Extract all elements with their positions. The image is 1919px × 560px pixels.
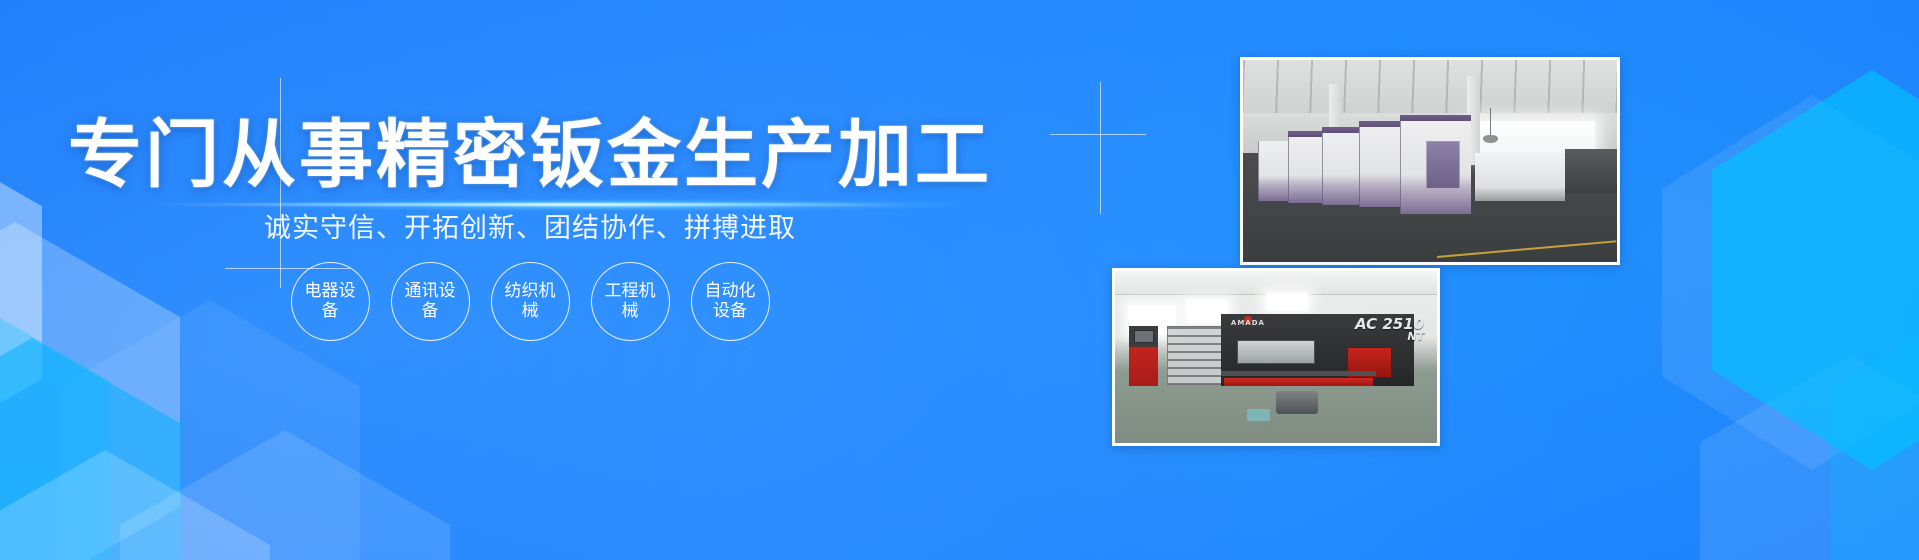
cnc-machine-door [1426,141,1460,189]
banner-headline: 专门从事精密钣金生产加工 [0,118,1060,192]
punch-press-red-bar [1224,378,1372,387]
punch-press-rail [1221,371,1376,376]
photo-cnc-machining-center-row[interactable] [1240,57,1620,265]
machine-far-right [1565,149,1617,193]
capability-badge-engineering[interactable]: 工程机械 [591,262,670,341]
hex-shape-right-3 [1700,355,1919,560]
factory-window [1266,293,1308,310]
capability-badge-list: 电器设备 通讯设备 纺织机械 工程机械 自动化设备 [0,262,1060,341]
factory-ceiling [1243,60,1617,113]
capability-badge-label: 电器设备 [301,282,360,321]
machine-model-label: AC 2510 NT [1355,317,1424,342]
floor-bucket [1247,409,1270,421]
machine-brand-label: AMADA [1231,319,1265,327]
capability-badge-communication[interactable]: 通讯设备 [391,262,470,341]
banner-subtitle: 诚实守信、开拓创新、团结协作、拼搏进取 [0,206,1060,245]
photo-amada-turret-punch-press-image: AMADA AC 2510 NT [1115,271,1437,443]
ceiling-lamp [1483,135,1498,143]
hex-shape-right-2 [1662,95,1919,470]
photo-amada-turret-punch-press[interactable]: AMADA AC 2510 NT [1112,268,1440,446]
capability-badge-electrical[interactable]: 电器设备 [291,262,370,341]
capability-badge-label: 自动化设备 [701,282,760,321]
capability-badge-textile[interactable]: 纺织机械 [491,262,570,341]
machine-control-console [1129,326,1158,386]
punch-press-motor [1276,391,1318,413]
console-screen [1134,330,1155,343]
capability-badge-automation[interactable]: 自动化设备 [691,262,770,341]
lamp-cord [1490,108,1491,136]
banner-copy-block: 专门从事精密钣金生产加工 诚实守信、开拓创新、团结协作、拼搏进取 电器设备 通讯… [0,0,1060,560]
punch-press-panel [1237,340,1314,364]
machine-right [1475,153,1565,201]
capability-badge-label: 通讯设备 [401,282,460,321]
factory-ceiling [1115,271,1437,295]
crosshair-vertical-line [1100,82,1101,214]
crosshair-horizontal-line [1050,134,1146,135]
capability-badge-label: 纺织机械 [501,282,560,321]
floor-marking-line [1437,240,1616,258]
capability-badge-label: 工程机械 [601,282,660,321]
hex-shape-right-4 [1830,300,1919,560]
hero-banner: 专门从事精密钣金生产加工 诚实守信、开拓创新、团结协作、拼搏进取 电器设备 通讯… [0,0,1919,560]
hex-shape-right-1 [1712,70,1919,470]
photo-cnc-machining-center-row-image [1243,60,1617,262]
